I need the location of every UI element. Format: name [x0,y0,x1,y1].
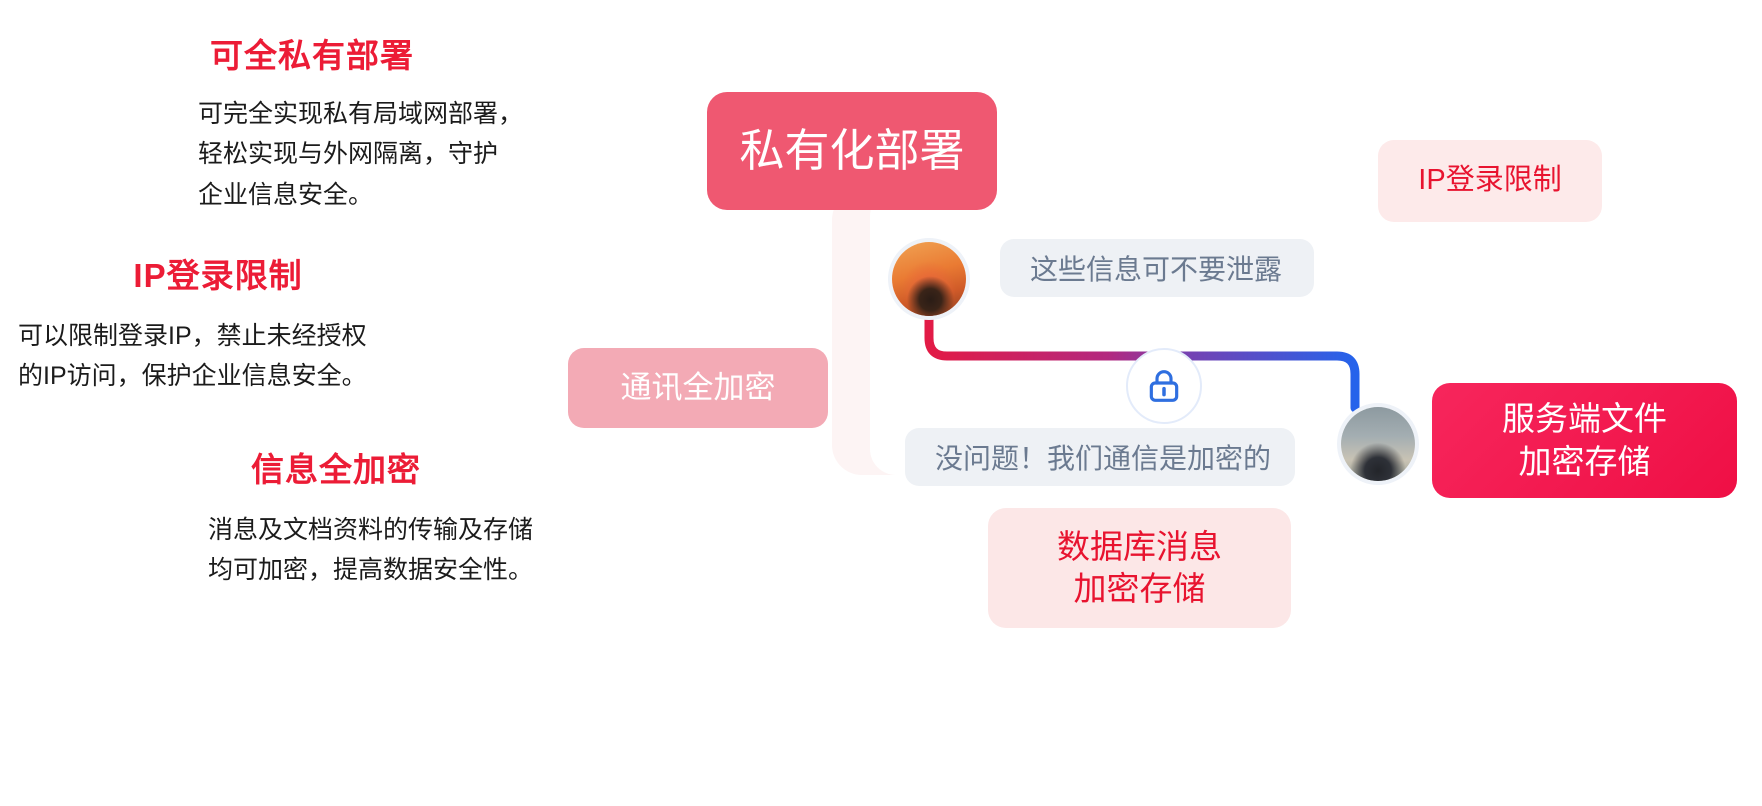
feature-private-deploy-title: 可全私有部署 [0,36,600,76]
chip-private-deployment[interactable]: 私有化部署 [707,92,997,210]
avatar-image [892,242,966,316]
chip-ip-login-restriction[interactable]: IP登录限制 [1378,140,1602,222]
avatar-image [1341,407,1415,481]
lock-icon [1144,366,1184,406]
feature-private-deploy-body: 可完全实现私有局域网部署， 轻松实现与外网隔离，守护 企业信息安全。 [0,94,600,216]
feature-full-encryption-title: 信息全加密 [0,450,620,490]
avatar-male-user [1337,403,1419,485]
feature-full-encryption: 信息全加密 消息及文档资料的传输及存储 均可加密，提高数据安全性。 [0,450,620,591]
chip-server-file-encrypted-storage[interactable]: 服务端文件 加密存储 [1432,383,1737,498]
body-line: 轻松实现与外网隔离，守护 [198,134,600,175]
body-line: 的IP访问，保护企业信息安全。 [18,356,430,397]
feature-full-encryption-body: 消息及文档资料的传输及存储 均可加密，提高数据安全性。 [0,510,620,591]
body-line: 均可加密，提高数据安全性。 [208,550,620,591]
body-line: 消息及文档资料的传输及存储 [208,510,620,551]
infographic-canvas: 可全私有部署 可完全实现私有局域网部署， 轻松实现与外网隔离，守护 企业信息安全… [0,0,1762,806]
body-line: 企业信息安全。 [198,175,600,216]
chat-bubble-outgoing: 没问题！我们通信是加密的 [905,428,1295,486]
feature-private-deploy: 可全私有部署 可完全实现私有局域网部署， 轻松实现与外网隔离，守护 企业信息安全… [0,36,600,215]
avatar-female-user [888,238,970,320]
feature-ip-restrict-body: 可以限制登录IP，禁止未经授权 的IP访问，保护企业信息安全。 [0,316,430,397]
chip-communication-encrypted[interactable]: 通讯全加密 [568,348,828,428]
feature-ip-restrict-title: IP登录限制 [0,256,430,296]
feature-ip-restrict: IP登录限制 可以限制登录IP，禁止未经授权 的IP访问，保护企业信息安全。 [0,256,430,397]
chip-database-message-encrypted-storage[interactable]: 数据库消息 加密存储 [988,508,1291,628]
encryption-lock-badge [1126,348,1202,424]
body-line: 可以限制登录IP，禁止未经授权 [18,316,430,357]
chat-bubble-incoming: 这些信息可不要泄露 [1000,239,1314,297]
body-line: 可完全实现私有局域网部署， [198,94,600,135]
